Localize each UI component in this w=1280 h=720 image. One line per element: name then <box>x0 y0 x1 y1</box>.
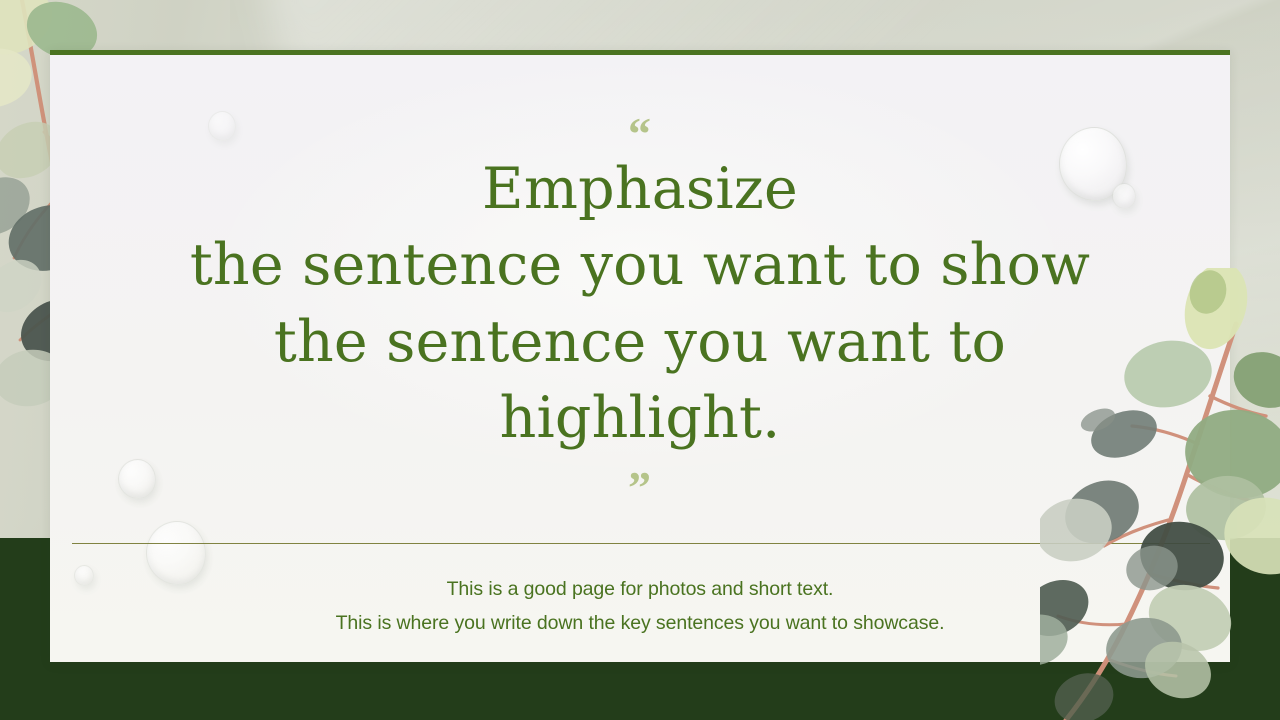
quote-close-icon: ” <box>50 465 1230 499</box>
quote-block: “ Emphasize the sentence you want to sho… <box>50 55 1230 499</box>
footer-text: This is a good page for photos and short… <box>50 573 1230 640</box>
footer-line-2: This is where you write down the key sen… <box>50 607 1230 641</box>
headline-line-2: the sentence you want to show <box>110 227 1170 303</box>
divider-line <box>72 543 1210 544</box>
quote-card: “ Emphasize the sentence you want to sho… <box>50 50 1230 662</box>
headline-line-1: Emphasize <box>110 151 1170 227</box>
slide-canvas: “ Emphasize the sentence you want to sho… <box>0 0 1280 720</box>
footer-line-1: This is a good page for photos and short… <box>50 573 1230 607</box>
headline-line-3: the sentence you want to <box>110 304 1170 380</box>
headline: Emphasize the sentence you want to show … <box>50 151 1230 457</box>
headline-line-4: highlight. <box>110 380 1170 456</box>
quote-open-icon: “ <box>50 111 1230 145</box>
